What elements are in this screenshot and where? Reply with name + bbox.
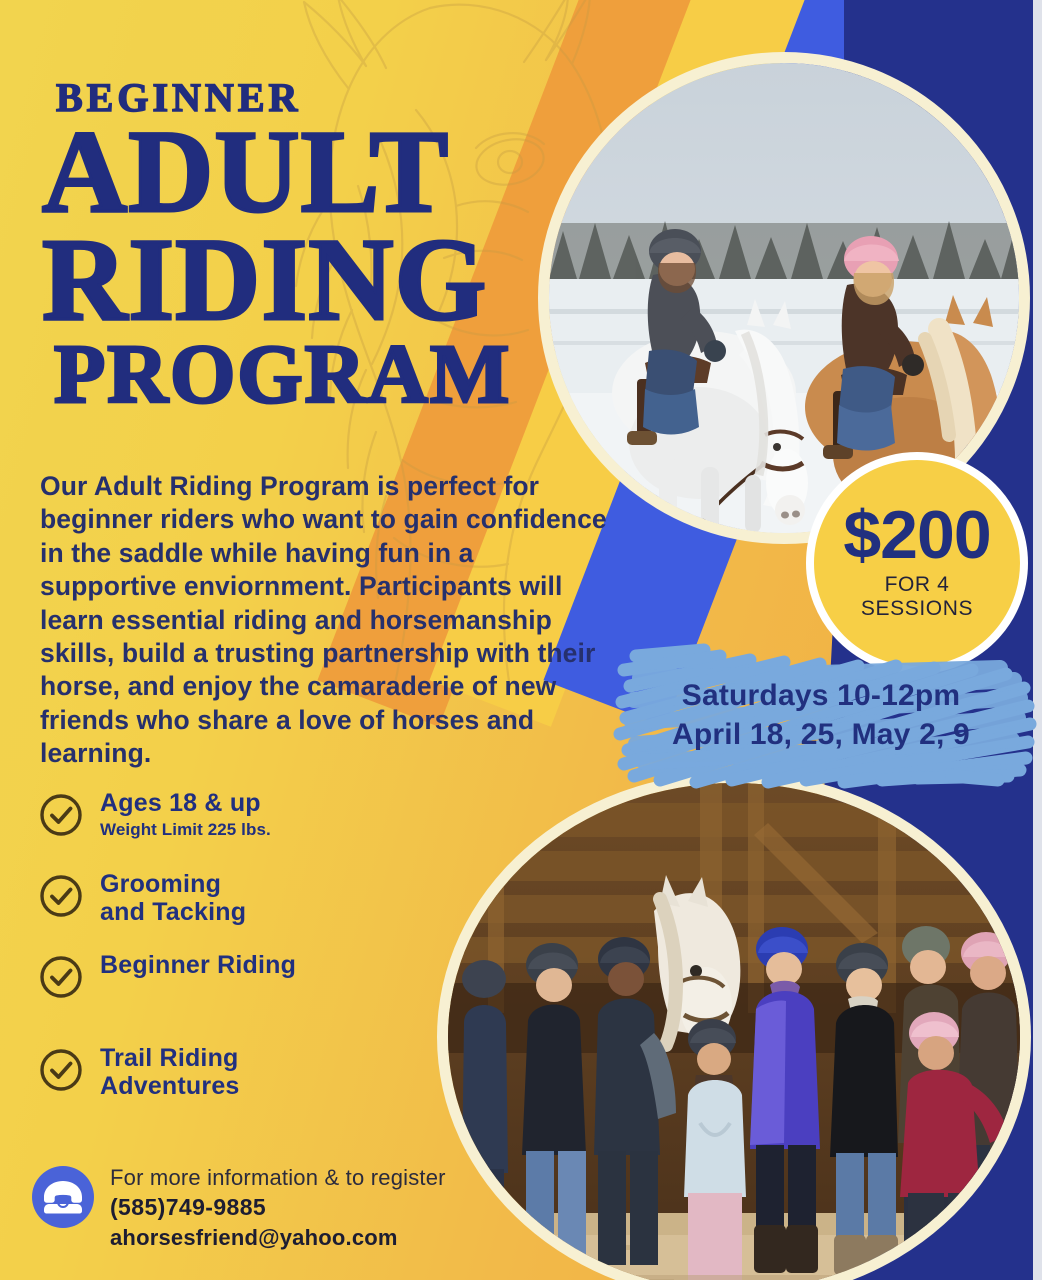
list-item-label: Grooming and Tacking [100,871,246,926]
list-item: Ages 18 & up Weight Limit 225 lbs. [38,790,418,843]
flyer-page: BEGINNER ADULT RIDING PROGRAM Our Adult … [0,0,1042,1280]
list-item-label: Trail Riding Adventures [100,1045,240,1100]
photo-group-in-barn-art [448,783,1020,1280]
check-circle-icon [38,1047,84,1098]
list-item-label: Beginner Riding [100,951,296,979]
headline-block: BEGINNER ADULT RIDING PROGRAM [40,78,600,412]
schedule-line-1: Saturdays 10-12pm [682,676,961,715]
schedule-line-2: April 18, 25, May 2, 9 [672,715,970,754]
list-item: Grooming and Tacking [38,871,418,926]
contact-lead-text: For more information & to register [110,1164,446,1192]
title-line-2: RIDING [42,228,600,332]
check-circle-icon [38,873,84,924]
title-line-3: PROGRAM [54,338,600,412]
body-paragraph: Our Adult Riding Program is perfect for … [40,470,608,770]
price-amount: $200 [843,505,990,566]
price-sub-line2: SESSIONS [861,597,973,620]
telephone-icon [30,1164,96,1235]
schedule-banner: Saturdays 10-12pm April 18, 25, May 2, 9 [600,640,1042,790]
list-item-label: Ages 18 & up [100,789,261,817]
price-sub-line1: FOR 4 [885,573,950,596]
list-item: Trail Riding Adventures [38,1045,418,1100]
contact-block: For more information & to register (585)… [30,1160,446,1252]
feature-list: Ages 18 & up Weight Limit 225 lbs. Groom… [38,790,418,1128]
check-circle-icon [38,792,84,843]
check-circle-icon [38,954,84,1005]
photo-group-in-barn [437,772,1031,1280]
contact-email[interactable]: ahorsesfriend@yahoo.com [110,1223,446,1253]
title-line-1: ADULT [42,120,600,224]
contact-phone[interactable]: (585)749-9885 [110,1192,446,1223]
list-item: Beginner Riding [38,952,418,1005]
list-item-sublabel: Weight Limit 225 lbs. [100,820,271,840]
